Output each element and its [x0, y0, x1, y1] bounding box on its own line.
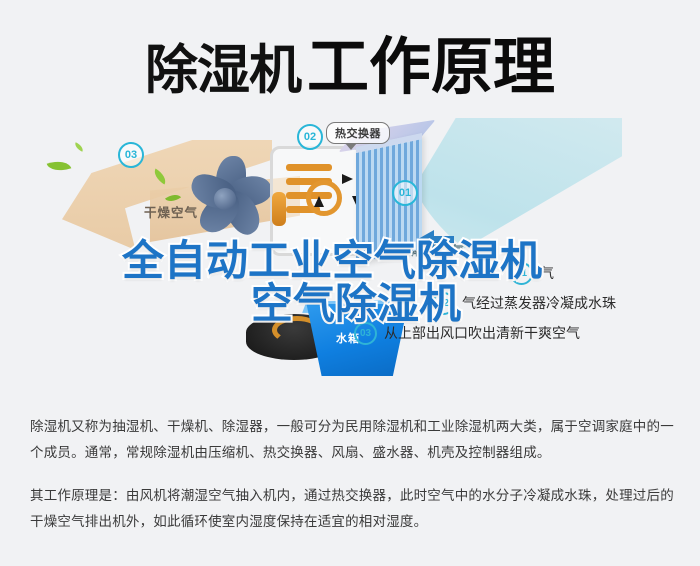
legend-number: 03: [354, 322, 377, 345]
title-part-2: 工作原理: [307, 37, 555, 99]
leaf-icon: [47, 157, 72, 175]
legend-item-03: 03 从上部出风口吹出清新干爽空气: [354, 318, 698, 348]
legend-text: 气经过蒸发器冷凝成水珠: [462, 293, 616, 313]
legend-text: 气: [540, 263, 554, 283]
legend-item-01: 01 气: [510, 258, 698, 288]
fan-illustration: [176, 148, 272, 244]
leaf-icon: [73, 142, 85, 152]
infographic-page: 除湿机 工作原理 干燥空气 潮湿空气: [0, 0, 700, 566]
paragraph-1: 除湿机又称为抽湿机、干燥机、除湿器，一般可分为民用除湿机和工业除湿机两大类，属于…: [30, 414, 675, 467]
legend-list: 01 气 02 气经过蒸发器冷凝成水珠 03 从上部出风口吹出清新干爽空气: [398, 258, 698, 348]
arrow-up-icon: [314, 196, 324, 207]
page-header: 除湿机 工作原理: [0, 22, 700, 114]
legend-number: 02: [432, 292, 455, 315]
legend-number: 01: [510, 262, 533, 285]
paragraph-2: 其工作原理是：由风机将潮湿空气抽入机内，通过热交换器，此时空气中的水分子冷凝成水…: [30, 483, 675, 536]
coil-pipe: [286, 164, 332, 171]
airflow-arrow-tail: [432, 236, 454, 243]
compressor-cylinder: [272, 192, 286, 226]
body-copy: 除湿机又称为抽湿机、干燥机、除湿器，一般可分为民用除湿机和工业除湿机两大类，属于…: [30, 414, 675, 535]
compressor-ring: [306, 180, 342, 216]
arrow-right-icon: [342, 174, 353, 184]
marker-03: 03: [118, 142, 144, 168]
legend-text: 从上部出风口吹出清新干爽空气: [384, 323, 580, 343]
marker-01: 01: [392, 180, 418, 206]
marker-02: 02: [297, 124, 323, 150]
page-title: 除湿机 工作原理: [145, 37, 555, 99]
heat-exchanger-callout: 热交换器: [326, 122, 390, 144]
legend-item-02: 02 气经过蒸发器冷凝成水珠: [432, 288, 698, 318]
fan-hub: [214, 188, 236, 210]
title-part-1: 除湿机: [145, 44, 301, 97]
